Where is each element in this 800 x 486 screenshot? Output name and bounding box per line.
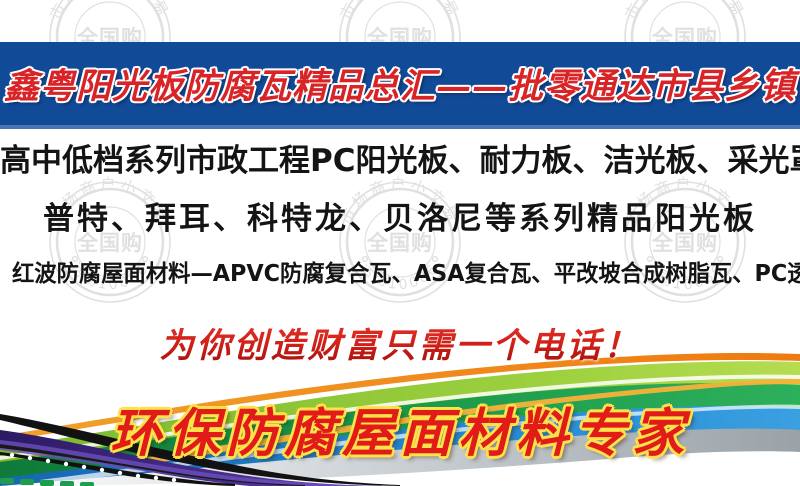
product-line-2: 普特、拜耳、科特龙、贝洛尼等系列精品阳光板 — [0, 190, 800, 248]
svg-text:市场商户小交易: 市场商户小交易 — [621, 0, 748, 22]
product-line-1: 高中低档系列市政工程PC阳光板、耐力板、洁光板、采光罩 — [0, 132, 800, 190]
product-lines: 高中低档系列市政工程PC阳光板、耐力板、洁光板、采光罩 普特、拜耳、科特龙、贝洛… — [0, 132, 800, 300]
banner-underline — [0, 125, 800, 129]
headline-text: 环保防腐屋面材料专家 — [0, 392, 800, 464]
advertisement-poster: 鑫粤阳光板防腐瓦精品总汇——批零通达市县乡镇 高中低档系列市政工程PC阳光板、耐… — [0, 0, 800, 486]
banner-title: 鑫粤阳光板防腐瓦精品总汇——批零通达市县乡镇 — [0, 42, 800, 125]
svg-text:市场商户小交易: 市场商户小交易 — [336, 0, 463, 22]
slogan-text: 为你创造财富只需一个电话！ — [0, 316, 800, 368]
svg-text:市场商户小交易: 市场商户小交易 — [46, 0, 173, 22]
product-line-3: 红波防腐屋面材料—APVC防腐复合瓦、ASA复合瓦、平改坡合成树脂瓦、PC透明瓦 — [12, 248, 788, 300]
